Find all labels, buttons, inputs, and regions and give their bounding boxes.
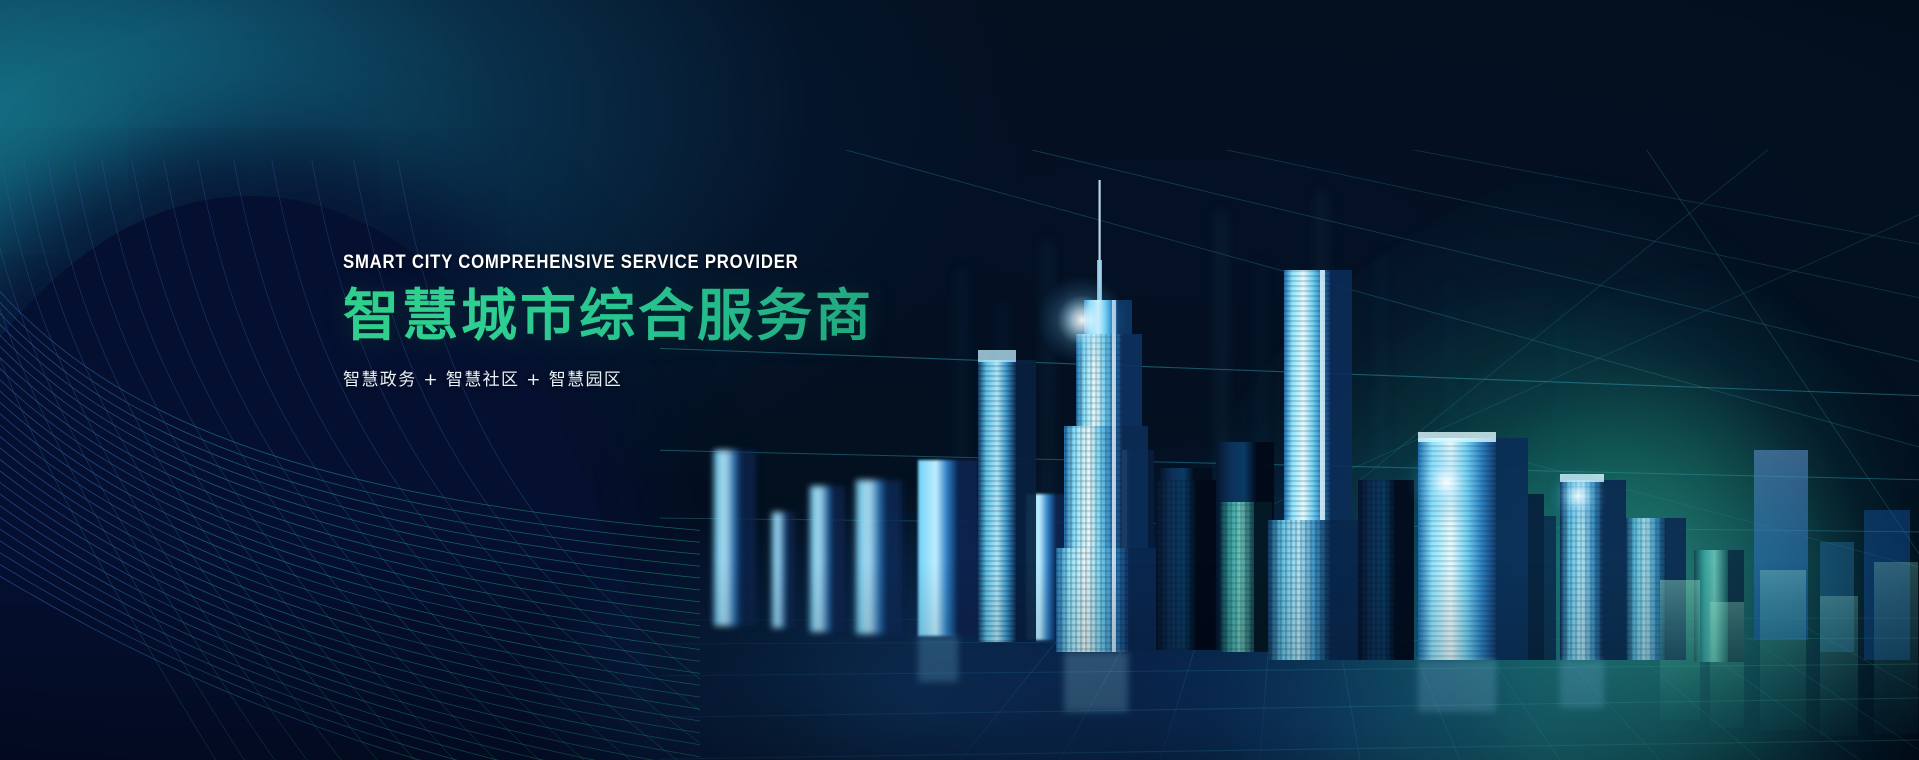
dark-towers-right [1156, 480, 1272, 652]
hero-tower [1056, 180, 1156, 652]
hero-banner: SMART CITY COMPREHENSIVE SERVICE PROVIDE… [0, 0, 1919, 760]
tower-flare-top [1036, 274, 1128, 366]
subtitle-services: 智慧政务 + 智慧社区 + 智慧园区 [343, 365, 874, 390]
eyebrow-tagline: SMART CITY COMPREHENSIVE SERVICE PROVIDE… [343, 252, 810, 274]
curved-line-mesh [0, 160, 700, 760]
ghost-green-blocks [1660, 562, 1918, 736]
tower-striped-left [978, 350, 1036, 642]
city-skyline [660, 150, 1919, 760]
left-glow-blocks [714, 450, 902, 634]
tower-flare-right [1548, 466, 1608, 526]
hero-copy-block: SMART CITY COMPREHENSIVE SERVICE PROVIDE… [343, 252, 874, 390]
tower-flare-mid [1406, 442, 1486, 522]
page-title: 智慧城市综合服务商 [343, 286, 874, 349]
